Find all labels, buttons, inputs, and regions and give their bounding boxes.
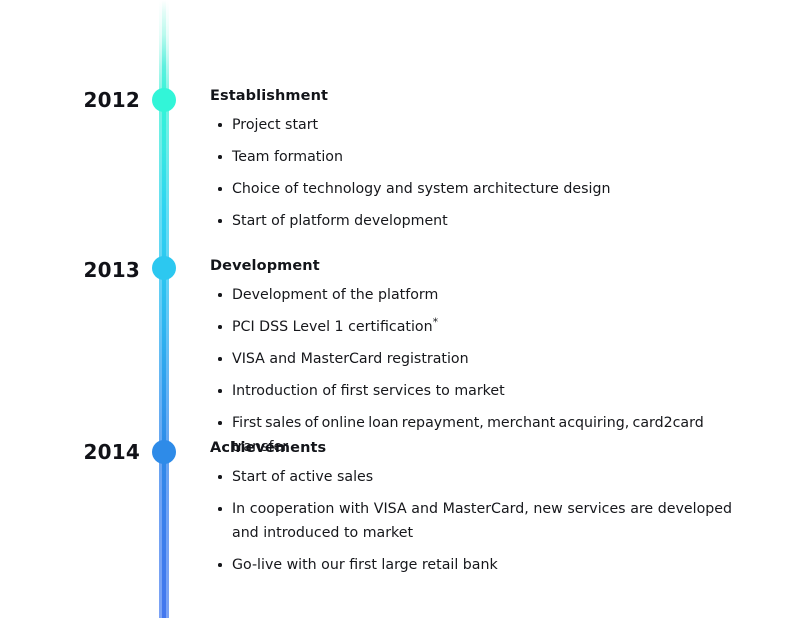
timeline-infographic: { "theme": { "background": "#ffffff", "t…	[0, 0, 789, 618]
list-item-text: Start of platform development	[232, 213, 448, 229]
list-item-text: Development of the platform	[232, 287, 438, 303]
milestone-body-2014: AchievementsStart of active salesIn coop…	[210, 440, 730, 577]
milestone-heading-2014: Achievements	[210, 440, 730, 456]
list-item-text: Go-live with our first large retail bank	[232, 557, 498, 573]
milestone-body-2012: EstablishmentProject startTeam formation…	[210, 88, 730, 233]
list-item: Introduction of first services to market	[210, 379, 730, 403]
year-label-2014: 2014	[40, 440, 140, 464]
list-item: Start of platform development	[210, 209, 730, 233]
list-item: Go-live with our first large retail bank	[210, 553, 730, 577]
list-item: Team formation	[210, 145, 730, 169]
milestone-list-2012: Project startTeam formationChoice of tec…	[210, 113, 730, 233]
timeline-axis	[159, 0, 169, 618]
year-label-2012: 2012	[40, 88, 140, 112]
list-item: Project start	[210, 113, 730, 137]
timeline-line-highlight-left	[159, 0, 162, 618]
list-item-text: Start of active sales	[232, 469, 373, 485]
list-item: In cooperation with VISA and MasterCard,…	[210, 497, 732, 545]
list-item: VISA and MasterCard registration	[210, 347, 730, 371]
milestone-body-2013: DevelopmentDevelopment of the platformPC…	[210, 258, 730, 459]
timeline-gradient-line	[159, 0, 169, 618]
list-item-text: Choice of technology and system architec…	[232, 181, 610, 197]
milestone-list-2013: Development of the platformPCI DSS Level…	[210, 283, 730, 459]
timeline-dot-3	[152, 440, 176, 464]
timeline-dot-2	[152, 256, 176, 280]
timeline-line-highlight-right	[166, 0, 169, 618]
list-item: Start of active sales	[210, 465, 730, 489]
timeline-dot-1	[152, 88, 176, 112]
milestone-heading-2013: Development	[210, 258, 730, 274]
list-item-text: PCI DSS Level 1 certification	[232, 319, 433, 335]
list-item-text: Introduction of first services to market	[232, 383, 505, 399]
footnote-asterisk: *	[433, 315, 439, 328]
list-item: Development of the platform	[210, 283, 730, 307]
list-item-text: Project start	[232, 117, 318, 133]
list-item-text: In cooperation with VISA and MasterCard,…	[232, 501, 732, 541]
list-item: Choice of technology and system architec…	[210, 177, 730, 201]
list-item-text: Team formation	[232, 149, 343, 165]
list-item: PCI DSS Level 1 certification*	[210, 315, 730, 339]
year-label-2013: 2013	[40, 258, 140, 282]
list-item-text: VISA and MasterCard registration	[232, 351, 469, 367]
milestone-list-2014: Start of active salesIn cooperation with…	[210, 465, 730, 577]
milestone-heading-2012: Establishment	[210, 88, 730, 104]
